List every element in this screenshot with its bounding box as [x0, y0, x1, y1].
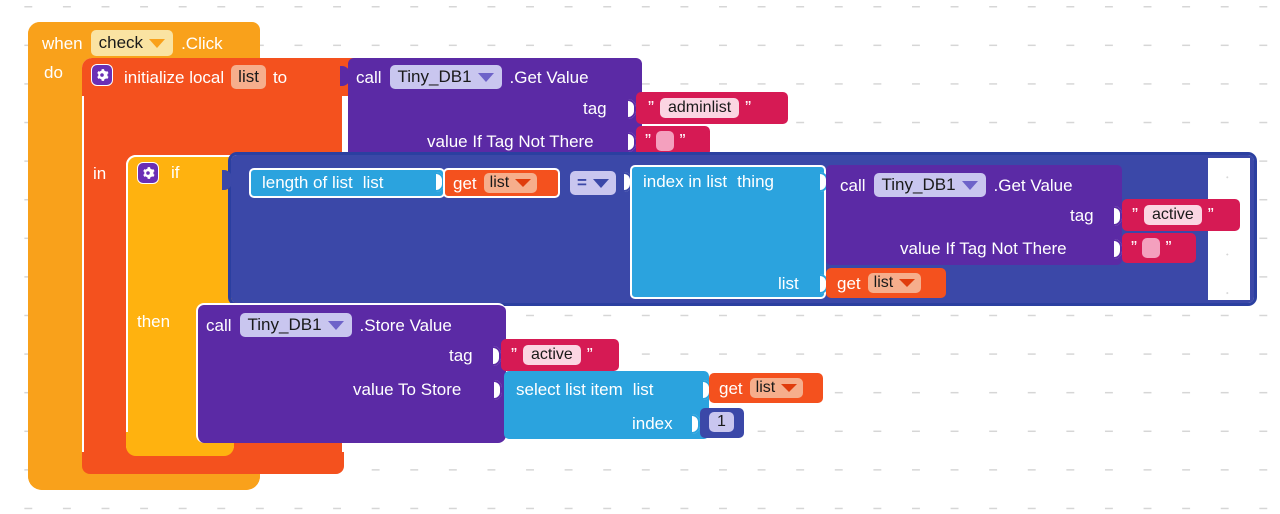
close-quote-glyph: ”: [745, 99, 751, 117]
text-active-field-store[interactable]: active: [523, 345, 581, 365]
text-empty-value-nested: [1149, 239, 1153, 257]
init-local-text-before: initialize local: [124, 69, 224, 86]
store-value-call-row: call Tiny_DB1 .Store Value: [206, 313, 452, 337]
store-value-tag-label: tag: [449, 347, 473, 364]
chevron-down-icon: [478, 73, 494, 82]
get-value-top-tag-label: tag: [583, 100, 607, 117]
store-value-component-name: Tiny_DB1: [248, 315, 322, 335]
text-block-adminlist-row: ” adminlist ”: [648, 98, 751, 118]
select-list-item-label: select list item: [516, 381, 623, 398]
get-value-nested-tag-label: tag: [1070, 207, 1094, 224]
length-of-list-arg-label: list: [363, 174, 384, 191]
get-value-nested-call-row: call Tiny_DB1 .Get Value: [840, 173, 1073, 197]
control-then-label: then: [137, 313, 170, 330]
get-value-top-call-row: call Tiny_DB1 .Get Value: [356, 65, 589, 89]
event-suffix-label: .Click: [181, 35, 223, 52]
open-quote-glyph: ”: [511, 346, 517, 364]
gear-glyph: [141, 166, 155, 180]
chevron-down-icon: [328, 321, 344, 330]
text-empty-field-nested[interactable]: [1142, 238, 1160, 258]
text-block-active-nested-row: ” active ”: [1132, 205, 1214, 225]
get-value-nested-component-dropdown[interactable]: Tiny_DB1: [874, 173, 986, 197]
get-value-nested-component-name: Tiny_DB1: [882, 175, 956, 195]
select-list-item-index-label: index: [632, 415, 673, 432]
text-block-active-store-row: ” active ”: [511, 345, 593, 365]
store-value-tostore-label: value To Store: [353, 381, 461, 398]
chevron-down-icon: [593, 179, 609, 188]
get-value-nested-notthere-label: value If Tag Not There: [900, 240, 1067, 257]
get-variable-name-3: list: [756, 379, 776, 397]
mutator-gear-icon-init-local[interactable]: [91, 64, 113, 86]
text-empty-field-top[interactable]: [656, 131, 674, 151]
control-if-label: if: [171, 164, 180, 181]
open-quote-glyph: ”: [645, 132, 651, 150]
math-number-field[interactable]: 1: [709, 412, 734, 432]
close-quote-glyph: ”: [587, 346, 593, 364]
get-variable-dropdown-3[interactable]: list: [750, 378, 804, 398]
store-value-component-dropdown[interactable]: Tiny_DB1: [240, 313, 352, 337]
event-component-dropdown[interactable]: check: [91, 30, 173, 56]
chevron-down-icon: [149, 39, 165, 48]
get-variable-row-2: get list: [837, 273, 921, 293]
length-of-list-row: length of list list: [262, 174, 384, 191]
init-local-text-after: to: [273, 69, 287, 86]
text-active-field-nested[interactable]: active: [1144, 205, 1202, 225]
index-in-list-list-label: list: [778, 275, 799, 292]
initialize-local-label-row: initialize local list to: [124, 65, 287, 89]
chevron-down-icon: [962, 181, 978, 190]
length-of-list-label: length of list: [262, 174, 353, 191]
close-quote-glyph: ”: [1208, 206, 1214, 224]
text-adminlist-value: adminlist: [668, 99, 731, 117]
init-local-variable-field[interactable]: list: [231, 65, 266, 89]
select-list-item-header-row: select list item list: [516, 381, 654, 398]
blocks-workspace-canvas[interactable]: when check .Click do initialize local li…: [0, 0, 1280, 514]
index-in-list-label: index in list: [643, 173, 727, 190]
text-empty-value-top: [663, 132, 667, 150]
index-in-list-header-row: index in list thing: [643, 173, 774, 190]
get-keyword-3: get: [719, 380, 743, 397]
chevron-down-icon: [515, 179, 531, 187]
select-list-item-list-label: list: [633, 381, 654, 398]
store-value-method-name: .Store Value: [360, 317, 452, 334]
get-value-nested-call-keyword: call: [840, 177, 866, 194]
get-value-top-notthere-label: value If Tag Not There: [427, 133, 594, 150]
get-keyword-2: get: [837, 275, 861, 292]
get-variable-dropdown-2[interactable]: list: [868, 273, 922, 293]
chevron-down-icon: [781, 384, 797, 392]
close-quote-glyph: ”: [1165, 239, 1171, 257]
open-quote-glyph: ”: [648, 99, 654, 117]
text-adminlist-field[interactable]: adminlist: [660, 98, 739, 118]
init-local-variable-name: list: [238, 67, 259, 87]
text-block-empty-nested-row: ” ”: [1131, 238, 1171, 258]
get-variable-row-1: get list: [453, 173, 537, 193]
get-value-nested-method-name: .Get Value: [994, 177, 1073, 194]
gear-glyph: [95, 68, 109, 82]
text-active-value-store: active: [531, 346, 573, 364]
event-component-name: check: [99, 33, 143, 53]
store-value-call-keyword: call: [206, 317, 232, 334]
mutator-gear-icon-if[interactable]: [137, 162, 159, 184]
get-value-top-call-keyword: call: [356, 69, 382, 86]
open-quote-glyph: ”: [1132, 206, 1138, 224]
get-value-top-component-dropdown[interactable]: Tiny_DB1: [390, 65, 502, 89]
comparison-operator-symbol: =: [577, 173, 587, 193]
comparison-operator-dropdown[interactable]: =: [570, 171, 616, 195]
get-variable-dropdown-1[interactable]: list: [484, 173, 538, 193]
open-quote-glyph: ”: [1131, 239, 1137, 257]
init-local-in-socket-label: in: [93, 165, 106, 182]
get-value-top-method-name: .Get Value: [510, 69, 589, 86]
get-variable-name-2: list: [874, 274, 894, 292]
event-when-label-row: when check .Click: [42, 30, 223, 56]
get-variable-row-3: get list: [719, 378, 803, 398]
get-value-top-component-name: Tiny_DB1: [398, 67, 472, 87]
index-in-list-thing-label: thing: [737, 173, 774, 190]
math-number-value: 1: [717, 413, 726, 431]
text-active-value-nested: active: [1152, 206, 1194, 224]
chevron-down-icon: [899, 279, 915, 287]
get-variable-name-1: list: [490, 174, 510, 192]
event-when-keyword: when: [42, 35, 83, 52]
close-quote-glyph: ”: [679, 132, 685, 150]
get-keyword-1: get: [453, 175, 477, 192]
event-do-socket-label: do: [44, 64, 63, 81]
text-block-empty-top-row: ” ”: [645, 131, 685, 151]
